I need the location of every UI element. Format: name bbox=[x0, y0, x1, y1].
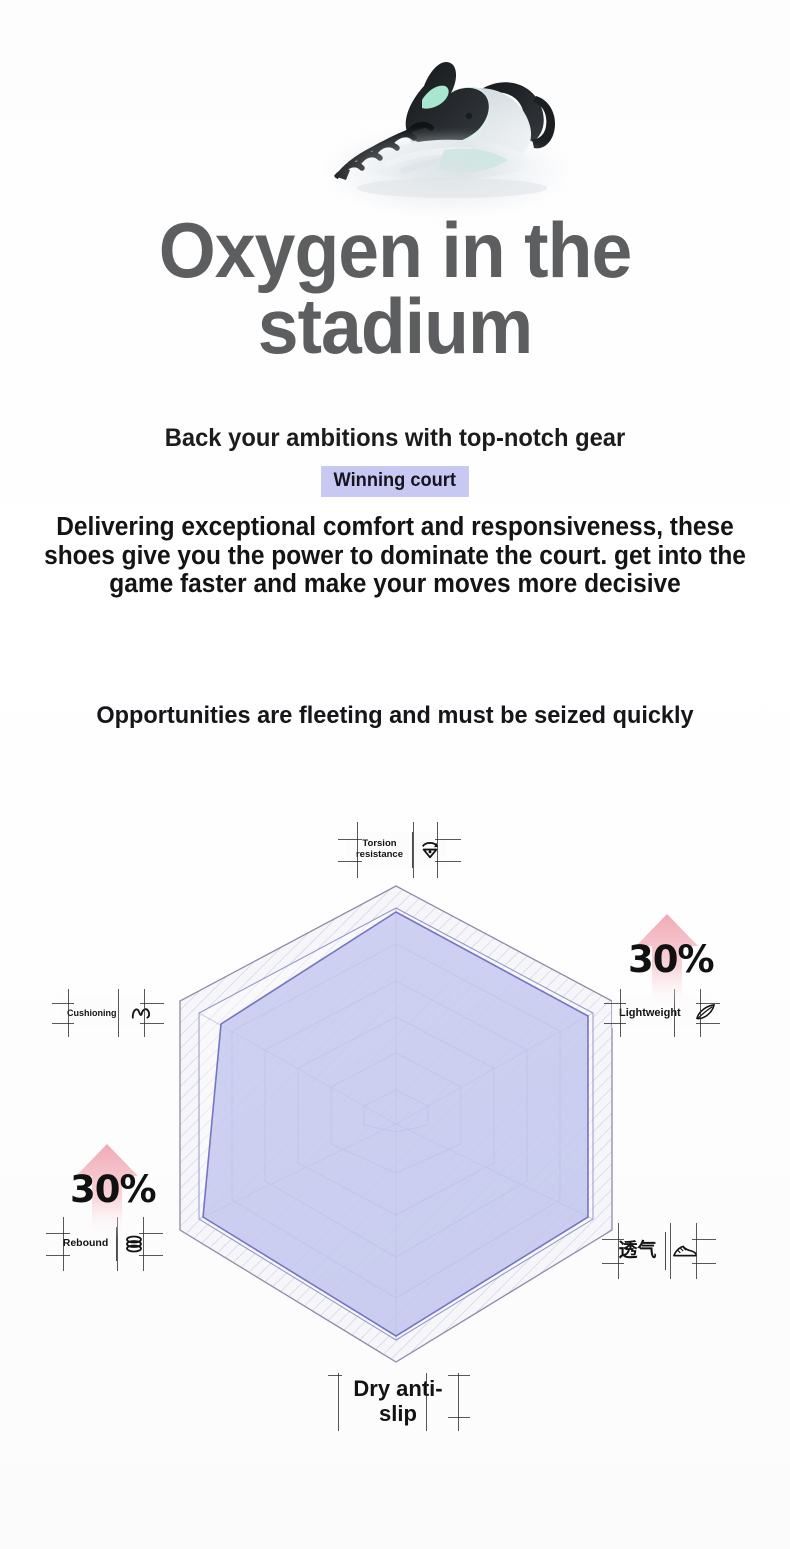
status-badge: Winning court bbox=[321, 466, 468, 497]
spec-divider bbox=[665, 1232, 666, 1270]
shoe-icon bbox=[666, 1232, 704, 1270]
hero-section bbox=[0, 0, 790, 215]
page-title: Oxygen in the stadium bbox=[24, 212, 767, 365]
spec-label-dry-antislip-text: Dry anti-slip bbox=[330, 1385, 466, 1419]
subheading: Back your ambitions with top-notch gear bbox=[20, 424, 771, 453]
page-title-line1: Oxygen in the bbox=[24, 212, 767, 288]
body-copy: Delivering exceptional comfort and respo… bbox=[37, 513, 753, 599]
radar-chart: 30% 30% Torsion resistance bbox=[0, 770, 790, 1470]
radar-chart-svg bbox=[0, 770, 790, 1470]
spec-label-cushioning[interactable]: Cushioning bbox=[60, 998, 152, 1028]
spec-label-torsion[interactable]: Torsion resistance bbox=[347, 832, 447, 868]
tagline: Opportunities are fleeting and must be s… bbox=[16, 702, 774, 730]
callout-value-lightweight: 30% bbox=[628, 938, 714, 981]
torsion-icon bbox=[413, 832, 447, 868]
page-title-line2: stadium bbox=[24, 288, 767, 364]
spec-label-dry-antislip[interactable]: Dry anti-slip bbox=[330, 1385, 466, 1419]
product-shoe-image bbox=[312, 38, 582, 213]
callout-value-rebound: 30% bbox=[70, 1168, 156, 1211]
spec-label-breathable[interactable]: 透气 bbox=[610, 1232, 704, 1270]
badge-row: Winning court bbox=[0, 466, 790, 497]
product-landing-page: Oxygen in the stadium Back your ambition… bbox=[0, 0, 790, 1549]
